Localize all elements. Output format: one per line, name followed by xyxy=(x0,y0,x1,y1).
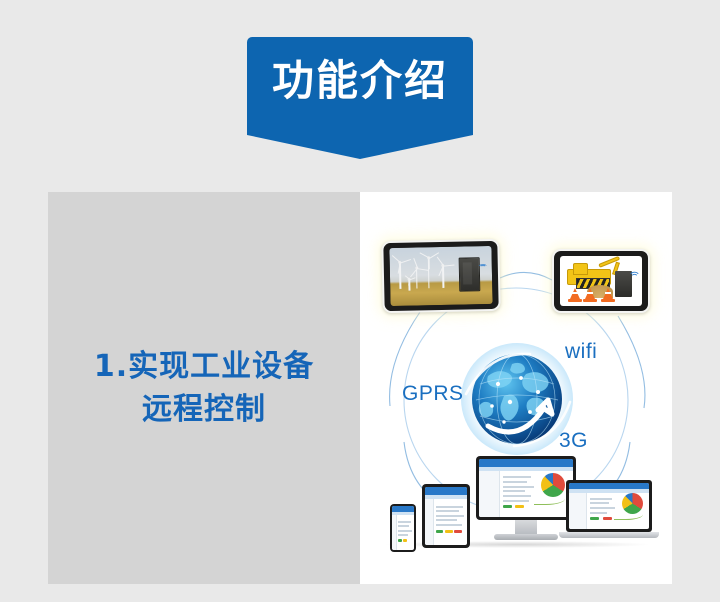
feature-heading: 1.实现工业设备 远程控制 xyxy=(82,345,326,432)
desktop-device xyxy=(476,456,576,520)
device-cluster xyxy=(380,454,652,562)
network-label-gprs: GPRS xyxy=(402,382,464,406)
tablet-device xyxy=(422,484,470,548)
content-section: 1.实现工业设备 远程控制 xyxy=(48,192,672,584)
section-banner: 功能介绍 xyxy=(247,37,473,159)
line-chart xyxy=(614,511,643,520)
construction-scene xyxy=(560,256,642,306)
feature-image-panel: GPRS wifi 3G xyxy=(360,192,672,584)
construction-site-tablet xyxy=(552,249,650,313)
wind-farm-tablet xyxy=(381,239,500,313)
desktop-dashboard xyxy=(479,459,573,517)
pie-chart xyxy=(541,473,565,497)
wifi-signal-icon xyxy=(630,269,639,277)
construction-site-screen xyxy=(560,256,642,306)
smartphone-device xyxy=(390,504,416,552)
laptop-device xyxy=(566,480,652,532)
laptop-base xyxy=(559,532,659,538)
monitor-stand xyxy=(515,520,537,534)
traffic-cone-icon xyxy=(585,288,595,299)
wind-farm-scene xyxy=(389,246,492,306)
smartphone-dashboard xyxy=(392,506,414,550)
line-chart xyxy=(534,495,566,505)
page-root: 功能介绍 1.实现工业设备 远程控制 xyxy=(0,0,720,602)
tablet-dashboard xyxy=(425,487,467,545)
wifi-signal-icon xyxy=(479,259,488,268)
field-cabinet-icon xyxy=(458,257,480,291)
feature-heading-line2: 远程控制 xyxy=(94,388,314,432)
banner-title: 功能介绍 xyxy=(247,57,473,105)
monitor-base xyxy=(494,534,558,540)
feature-text-panel: 1.实现工业设备 远程控制 xyxy=(48,192,360,584)
network-label-wifi: wifi xyxy=(565,340,597,364)
traffic-cone-icon xyxy=(603,288,613,299)
laptop-dashboard xyxy=(569,483,649,529)
excavator-cab-icon xyxy=(573,263,588,275)
traffic-cone-icon xyxy=(570,288,580,299)
network-label-3g: 3G xyxy=(559,429,588,453)
feature-heading-line1: 1.实现工业设备 xyxy=(94,349,314,384)
wind-farm-screen xyxy=(389,246,492,306)
iot-network-diagram: GPRS wifi 3G xyxy=(360,192,672,584)
wind-turbine-icon xyxy=(428,258,429,288)
wind-turbine-icon xyxy=(400,262,401,288)
